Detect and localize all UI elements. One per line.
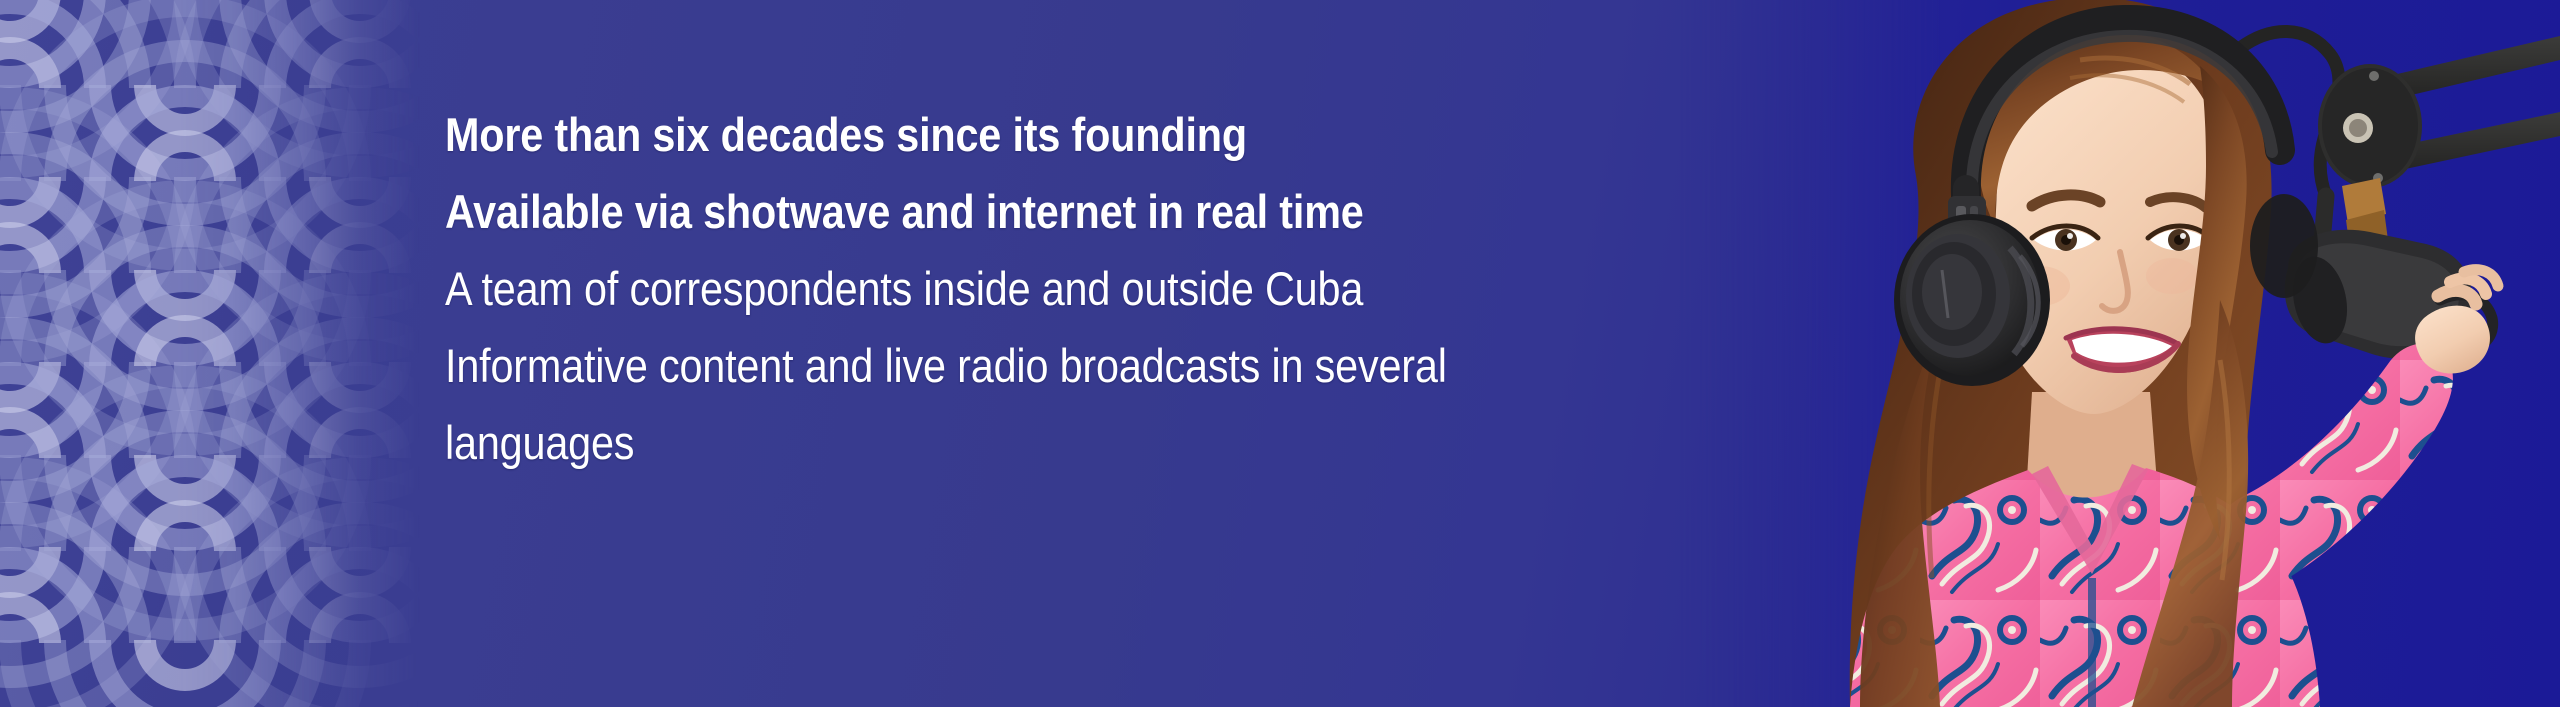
radio-host-illustration <box>1680 0 2560 707</box>
headline-line-4: Informative content and live radio broad… <box>445 327 1483 481</box>
headline-line-1: More than six decades since its founding <box>445 96 1554 173</box>
radio-wave-pattern-decoration <box>0 0 420 707</box>
radio-station-feature-banner: More than six decades since its founding… <box>0 0 2560 707</box>
headline-list: More than six decades since its founding… <box>445 96 1705 481</box>
headline-line-2: Available via shotwave and internet in r… <box>445 173 1554 250</box>
radio-host-photo <box>1680 0 2560 707</box>
headline-line-3: A team of correspondents inside and outs… <box>445 250 1554 327</box>
